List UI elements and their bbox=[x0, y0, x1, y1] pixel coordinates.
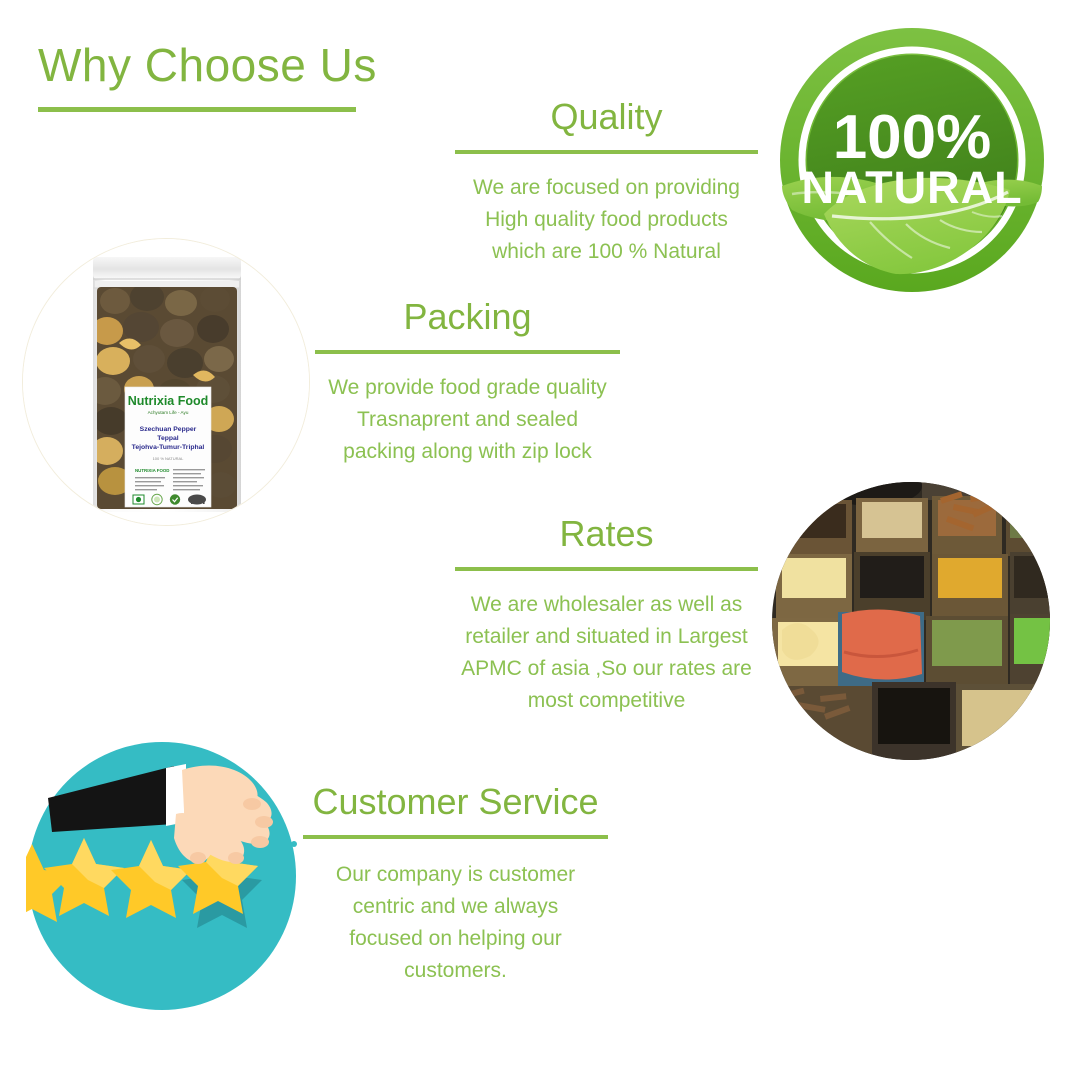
section-line: customers. bbox=[303, 955, 608, 987]
badge-natural-label: NATURAL bbox=[801, 162, 1022, 213]
section-line: focused on helping our bbox=[303, 923, 608, 955]
customer-service-image bbox=[26, 740, 298, 1012]
section-rates: Rates We are wholesaler as well as retai… bbox=[455, 513, 758, 717]
section-body-customer-service: Our company is customer centric and we a… bbox=[303, 859, 608, 987]
product-pouch-photo: Nutrixia Food Achyutam Life - Ayu Szechu… bbox=[22, 238, 310, 526]
section-divider-customer-service bbox=[303, 835, 608, 839]
section-title-quality: Quality bbox=[455, 96, 758, 138]
pouch-natural-claim: 100 % NATURAL bbox=[153, 456, 185, 461]
section-line: which are 100 % Natural bbox=[455, 236, 758, 268]
section-line: retailer and situated in Largest bbox=[455, 621, 758, 653]
customer-service-illustration bbox=[26, 740, 298, 1012]
spice-bin-row-1 bbox=[780, 496, 1050, 556]
pouch-info-heading: NUTRIXIA FOOD bbox=[135, 468, 169, 473]
section-title-rates: Rates bbox=[455, 513, 758, 555]
section-packing: Packing We provide food grade quality Tr… bbox=[315, 296, 620, 468]
section-body-quality: We are focused on providing High quality… bbox=[455, 172, 758, 268]
section-divider-packing bbox=[315, 350, 620, 354]
pouch-product-line-1: Szechuan Pepper bbox=[140, 426, 197, 433]
section-line: Trasnaprent and sealed bbox=[315, 404, 620, 436]
section-divider-rates bbox=[455, 567, 758, 571]
section-title-packing: Packing bbox=[315, 296, 620, 338]
section-quality: Quality We are focused on providing High… bbox=[455, 96, 758, 268]
section-body-rates: We are wholesaler as well as retailer an… bbox=[455, 589, 758, 717]
page-title-underline bbox=[38, 107, 356, 112]
section-line: most competitive bbox=[455, 685, 758, 717]
page-title: Why Choose Us bbox=[38, 38, 377, 92]
spice-market-image bbox=[772, 482, 1050, 760]
section-line: We provide food grade quality bbox=[315, 372, 620, 404]
natural-badge: 100% NATURAL bbox=[778, 26, 1046, 294]
section-line: We are focused on providing bbox=[455, 172, 758, 204]
section-line: Our company is customer bbox=[303, 859, 608, 891]
accent-dot bbox=[291, 841, 297, 847]
section-body-packing: We provide food grade quality Trasnapren… bbox=[315, 372, 620, 468]
section-line: We are wholesaler as well as bbox=[455, 589, 758, 621]
section-divider-quality bbox=[455, 150, 758, 154]
spice-bin-row-4 bbox=[772, 682, 1050, 760]
section-line: APMC of asia ,So our rates are bbox=[455, 653, 758, 685]
section-customer-service: Customer Service Our company is customer… bbox=[303, 781, 608, 987]
natural-badge-icon: 100% NATURAL bbox=[778, 26, 1046, 294]
spice-market-photo bbox=[772, 482, 1050, 760]
section-line: High quality food products bbox=[455, 204, 758, 236]
infographic-page: Why Choose Us Quality We are focused on … bbox=[0, 0, 1080, 1080]
pouch-brand-name: Nutrixia Food bbox=[128, 394, 209, 408]
pouch-product-line-3: Tejohva-Tumur-Triphal bbox=[132, 444, 205, 451]
product-pouch-image: Nutrixia Food Achyutam Life - Ayu Szechu… bbox=[23, 239, 310, 526]
section-line: centric and we always bbox=[303, 891, 608, 923]
pouch-brand-tagline: Achyutam Life - Ayu bbox=[148, 410, 189, 415]
section-line: packing along with zip lock bbox=[315, 436, 620, 468]
section-title-customer-service: Customer Service bbox=[303, 781, 608, 823]
pouch-product-line-2: Teppal bbox=[157, 435, 179, 442]
